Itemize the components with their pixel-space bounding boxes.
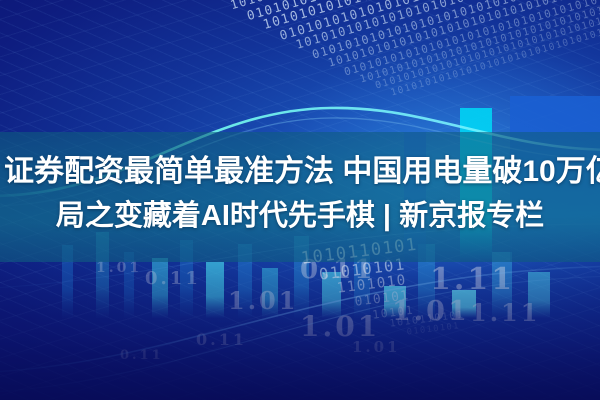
page-title: 证券配资最简单最准方法 中国用电量破10万亿，格 局之变藏着AI时代先手棋 | … [0,150,600,238]
headline-line-1: 证券配资最简单最准方法 中国用电量破10万亿，格 [4,150,596,194]
swoosh-lower-1 [0,266,600,372]
headline-line-2: 局之变藏着AI时代先手棋 | 新京报专栏 [4,194,596,238]
swoosh-lower-2 [0,276,600,392]
banner-image: 0101010101010101010101010101010101101010… [0,0,600,400]
